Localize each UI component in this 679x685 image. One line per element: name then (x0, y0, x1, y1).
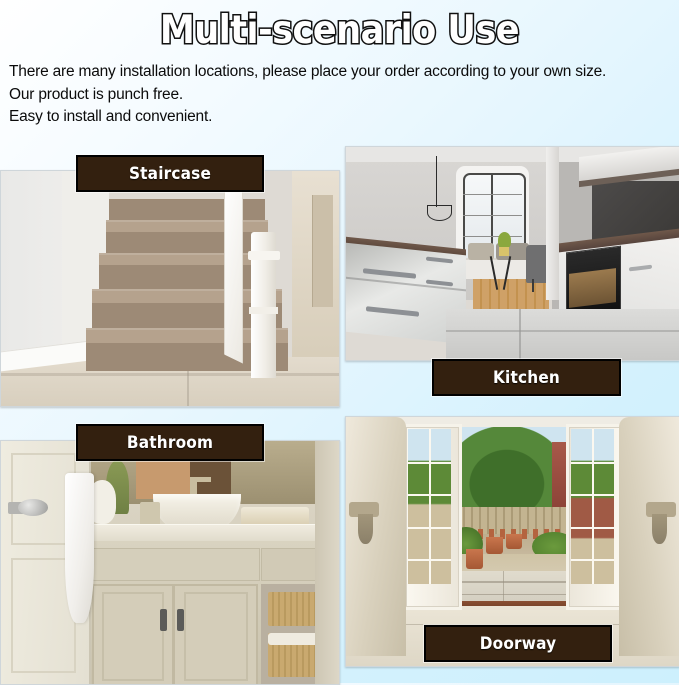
door-transom (571, 527, 614, 529)
cabinet-handle (177, 609, 184, 631)
badge-doorway: Doorway (424, 625, 612, 662)
window-bench (466, 258, 533, 279)
faucet-spout (190, 477, 210, 482)
vanity-drawer (89, 548, 260, 582)
badge-label: Bathroom (127, 433, 213, 453)
window-grid (463, 236, 523, 237)
pendant-cord (436, 156, 438, 207)
badge-kitchen: Kitchen (432, 359, 621, 396)
window-grid (463, 215, 523, 216)
door-transom (571, 494, 614, 496)
floor-seam (1, 373, 339, 376)
badge-label: Staircase (129, 164, 211, 184)
cabinet-handle (160, 609, 167, 631)
badge-label: Doorway (480, 634, 557, 654)
plant-pot (499, 247, 509, 256)
curtain-tassel (358, 514, 373, 544)
terracotta-pot (486, 537, 503, 554)
chair-leg (532, 279, 534, 292)
scene-kitchen (346, 147, 679, 360)
paving-joint (449, 594, 576, 596)
cabinet-door-inset (184, 592, 249, 681)
stair-riser (99, 265, 275, 291)
badge-staircase: Staircase (76, 155, 264, 192)
door-transom (408, 494, 451, 496)
curtain-tassel (652, 514, 667, 544)
door-transom (408, 559, 451, 561)
paving-joint (449, 581, 576, 583)
page-title: Multi-scenario Use (0, 8, 679, 54)
hanging-towel (65, 473, 94, 624)
tile-floor (446, 309, 679, 360)
far-door (312, 195, 333, 308)
badge-bathroom: Bathroom (76, 424, 264, 461)
terracotta-pot (466, 549, 483, 569)
door-transom (571, 462, 614, 464)
door-transom (408, 527, 451, 529)
photo-staircase (0, 170, 340, 407)
scene-bathroom (1, 441, 339, 684)
newel-cap (248, 251, 280, 260)
description-block: There are many installation locations, p… (9, 61, 674, 129)
tap-fitting (140, 502, 160, 526)
description-line-1: There are many installation locations, p… (9, 61, 674, 84)
window-grid (463, 194, 523, 195)
curtain-right (619, 417, 679, 656)
wall-right (315, 441, 339, 684)
oven-window (569, 268, 616, 308)
wall-pillar (546, 147, 559, 300)
terracotta-pot (506, 534, 523, 549)
tile-grout (519, 309, 521, 360)
badge-label: Kitchen (493, 368, 560, 388)
curtain-left (346, 417, 406, 656)
photo-kitchen (345, 146, 679, 361)
photo-bathroom (0, 440, 340, 685)
description-line-3: Easy to install and convenient. (9, 106, 674, 129)
stair-riser (106, 232, 268, 256)
newel-band (249, 307, 278, 314)
tile-grout (446, 330, 679, 332)
description-line-2: Our product is punch free. (9, 84, 674, 107)
cabinet-door-inset (102, 592, 163, 681)
handrail (224, 171, 243, 364)
scene-staircase (1, 171, 339, 406)
promo-page: Multi-scenario Use There are many instal… (0, 0, 679, 683)
door-transom (408, 462, 451, 464)
door-transom (571, 559, 614, 561)
